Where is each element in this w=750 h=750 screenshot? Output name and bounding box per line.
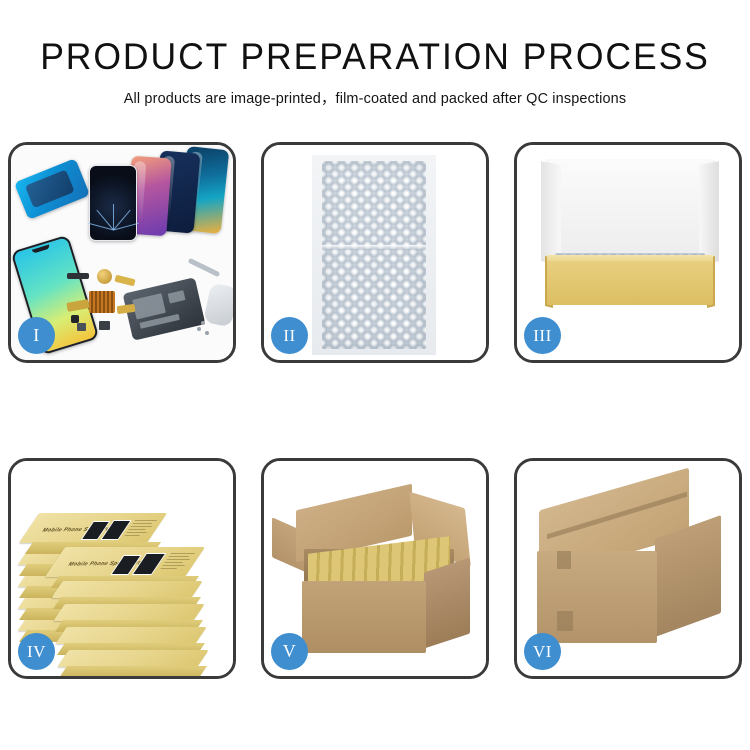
process-step-card-3: III [514,142,742,363]
page-title: PRODUCT PREPARATION PROCESS [15,0,735,78]
carton-side-panel [424,558,470,649]
step-badge-6: VI [524,633,561,670]
blue-adhesive-sheet [14,158,90,220]
page-header: PRODUCT PREPARATION PROCESS All products… [0,0,750,108]
product-preparation-process-page: PRODUCT PREPARATION PROCESS All products… [0,0,750,750]
screw-3 [201,321,205,325]
page-subtitle: All products are image-printed，film-coat… [4,78,747,108]
wrap-fold-crease [322,245,426,250]
process-step-card-6: VI [514,458,742,679]
step-badge-5: V [271,633,308,670]
step-badge-4: IV [18,633,55,670]
retail-box-printed-front: Mobile Phone Spare Parts [55,547,195,577]
step-badge-3: III [524,317,561,354]
chip-part-1 [99,321,110,330]
gloved-hand [203,283,233,328]
speaker-part [97,269,112,284]
flex-cable-2 [114,275,135,287]
process-step-card-1: I [8,142,236,363]
carton-tape-mark-1 [557,551,571,569]
retail-box-front-3 [59,604,199,621]
retail-box-printed-top: Mobile Phone Spare Parts [29,513,157,543]
retail-box-front-2 [57,581,197,598]
earpiece-part [67,273,89,279]
process-step-grid: I II III [0,142,750,682]
step-badge-1: I [18,317,55,354]
box-stack: Mobile Phone Spare Parts Mobile Phone Sp… [19,485,229,665]
screen-protector-glass [89,165,137,241]
process-step-card-4: Mobile Phone Spare Parts Mobile Phone Sp… [8,458,236,679]
process-step-card-2: II [261,142,489,363]
screw-2 [205,331,209,335]
box-lid-right-flap [699,161,719,265]
mesh-part [89,291,115,313]
carton-front-panel [302,581,426,653]
carton-tape-mark-2 [557,611,573,631]
step-badge-2: II [271,317,308,354]
box-lid-back-panel [545,159,715,267]
box-front-panel [547,261,713,305]
camera-module [71,315,79,323]
sealed-carton-front-panel [537,551,657,643]
retail-box-front-5 [63,650,203,667]
bubble-wrap-texture [322,161,426,349]
process-step-card-5: V [261,458,489,679]
screw-1 [197,327,201,331]
box-lid-left-flap [541,161,561,265]
retail-box-front-4 [61,627,201,644]
repair-tweezers [188,258,221,277]
chip-part-2 [77,323,86,331]
